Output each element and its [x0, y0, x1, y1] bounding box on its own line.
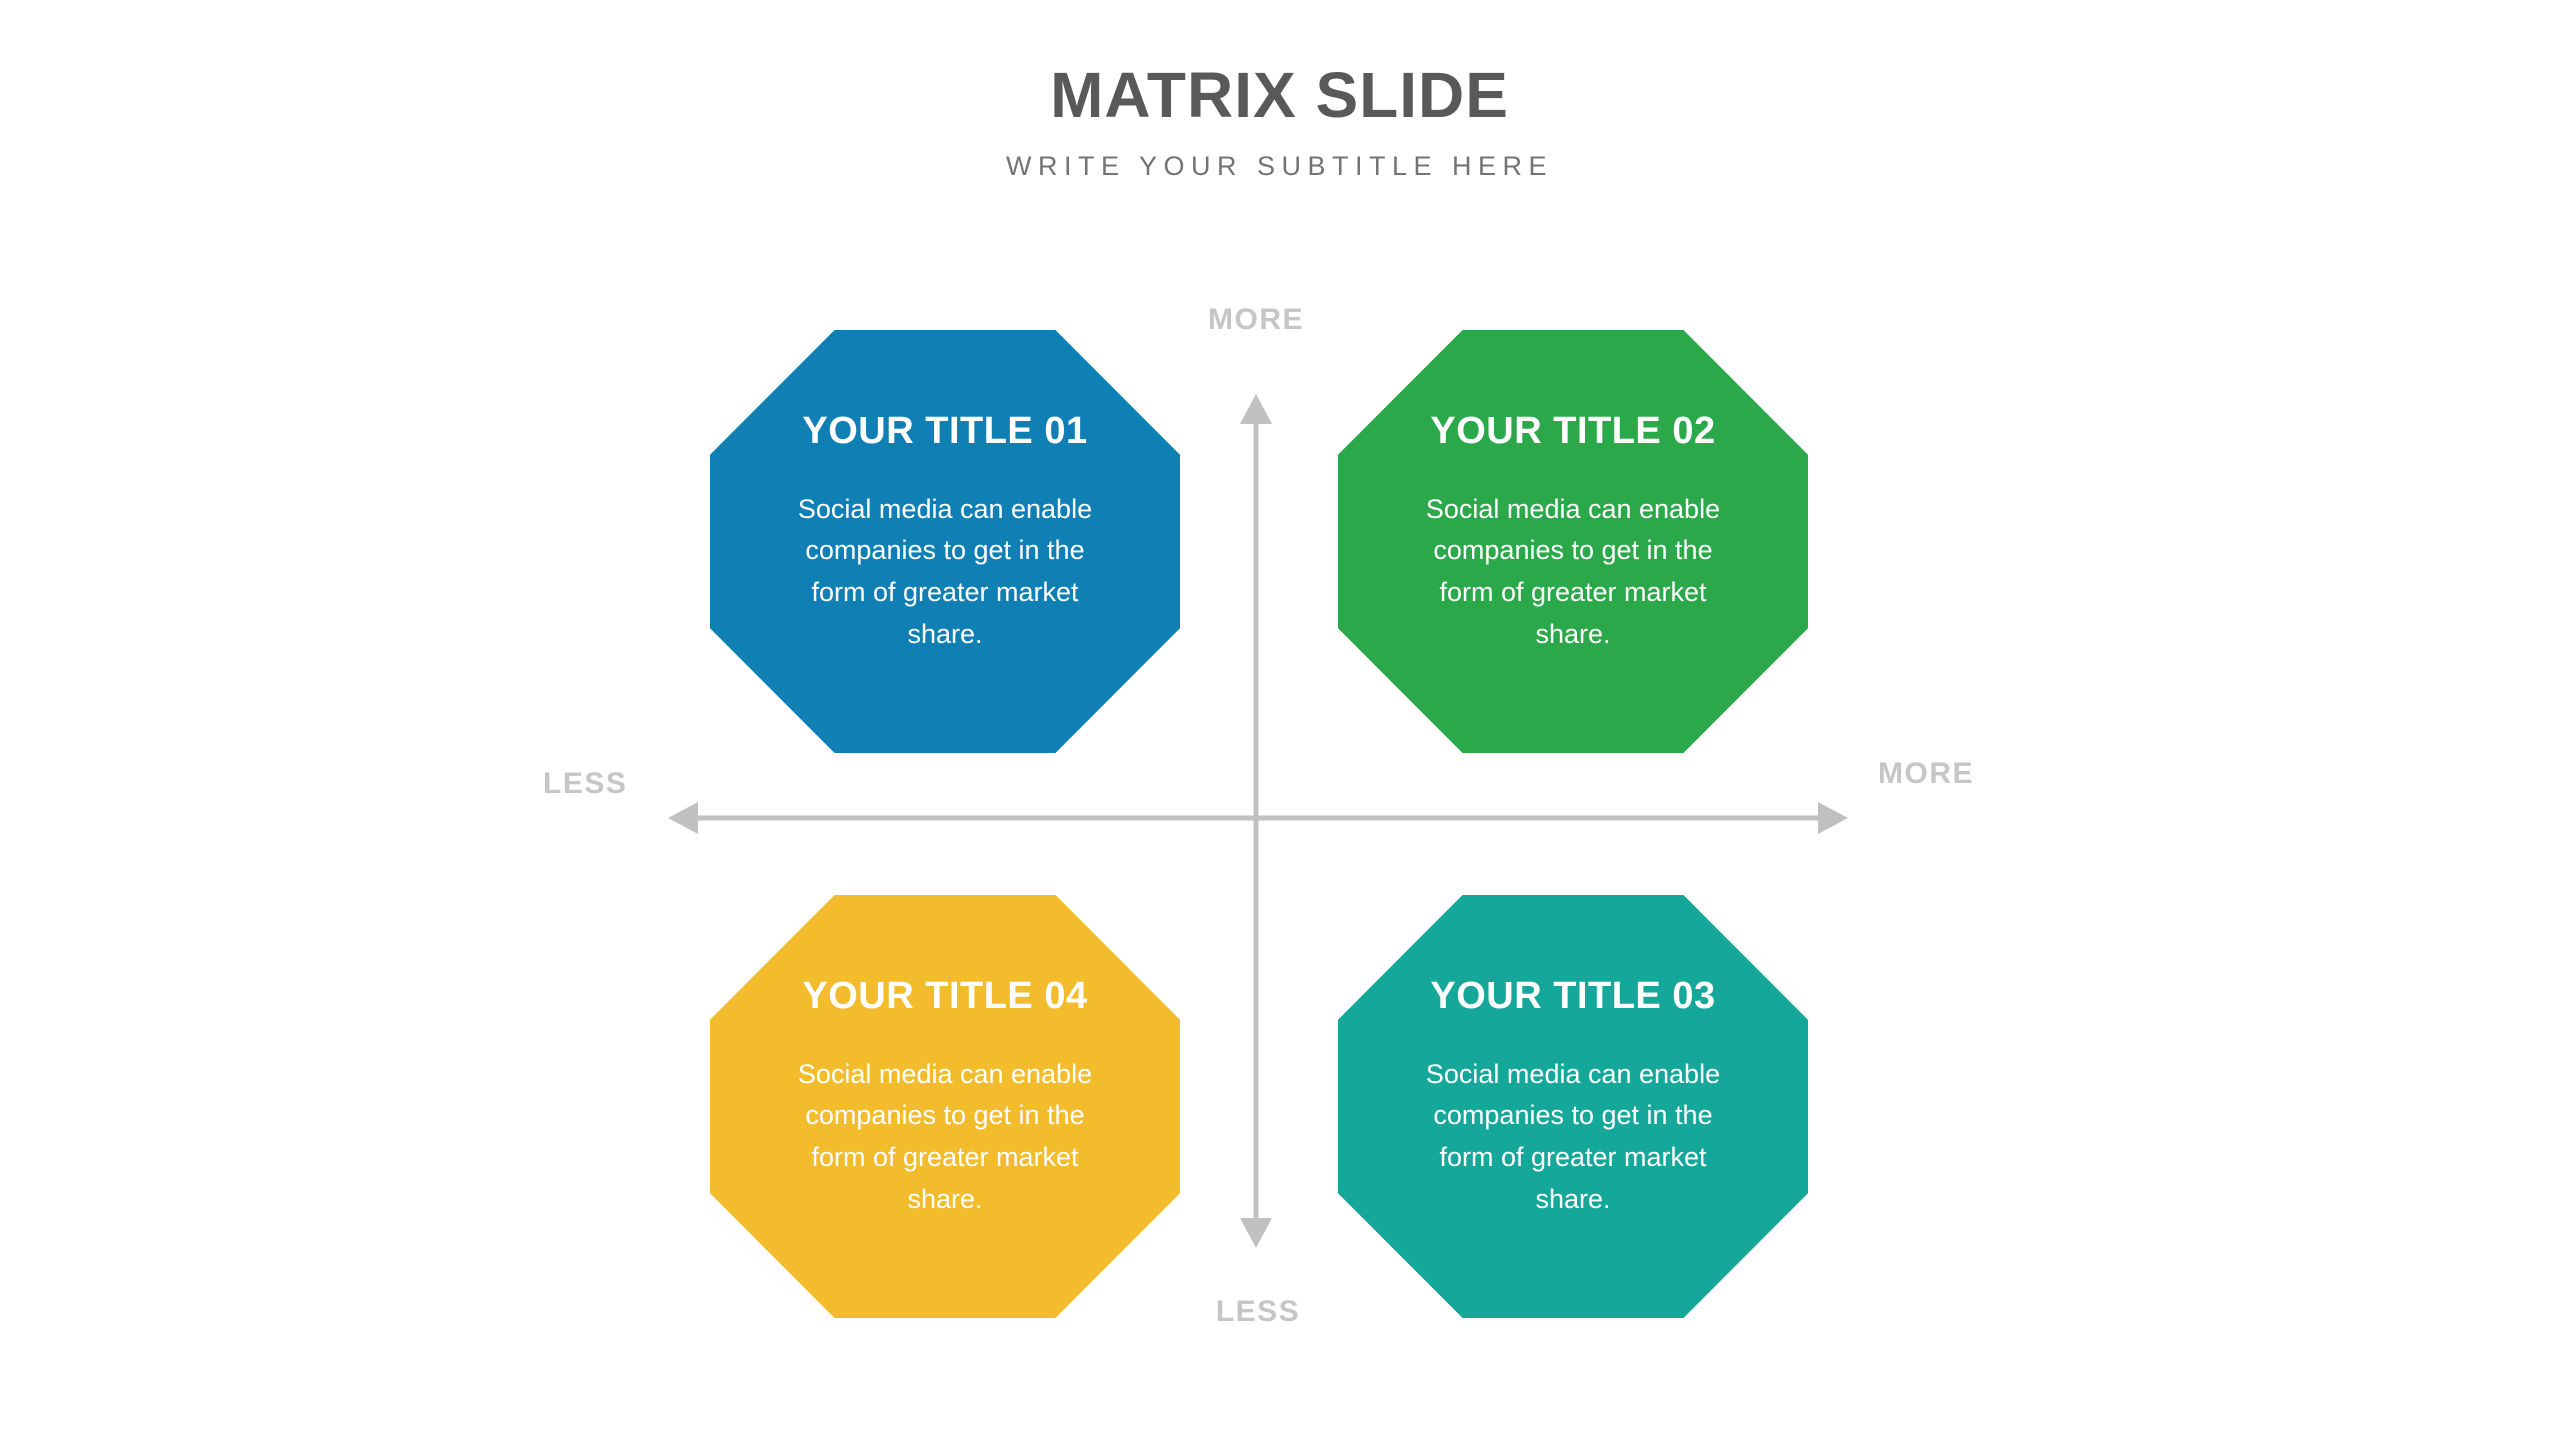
matrix-axes [0, 0, 2559, 1440]
quadrant-title: YOUR TITLE 02 [1430, 330, 1715, 453]
axis-arrow-up-icon [1240, 394, 1272, 424]
quadrant-title: YOUR TITLE 03 [1430, 895, 1715, 1018]
quadrant-octagon-bottom-left[interactable]: YOUR TITLE 04 Social media can enable co… [710, 895, 1180, 1318]
axis-label-vertical-bottom: LESS [1216, 1295, 1300, 1329]
quadrant-title: YOUR TITLE 01 [802, 330, 1087, 453]
quadrant-octagon-bottom-right[interactable]: YOUR TITLE 03 Social media can enable co… [1338, 895, 1808, 1318]
quadrant-body: Social media can enable companies to get… [1408, 1018, 1738, 1220]
quadrant-body: Social media can enable companies to get… [780, 453, 1110, 655]
page-subtitle: WRITE YOUR SUBTITLE HERE [0, 151, 2559, 182]
page-title: MATRIX SLIDE [0, 62, 2559, 129]
quadrant-body: Social media can enable companies to get… [780, 1018, 1110, 1220]
slide-header: MATRIX SLIDE WRITE YOUR SUBTITLE HERE [0, 62, 2559, 182]
axis-arrow-right-icon [1818, 802, 1848, 834]
matrix-slide: MATRIX SLIDE WRITE YOUR SUBTITLE HERE MO… [0, 0, 2559, 1440]
quadrant-body: Social media can enable companies to get… [1408, 453, 1738, 655]
axis-arrow-left-icon [668, 802, 698, 834]
quadrant-octagon-top-left[interactable]: YOUR TITLE 01 Social media can enable co… [710, 330, 1180, 753]
quadrant-title: YOUR TITLE 04 [802, 895, 1087, 1018]
quadrant-octagon-top-right[interactable]: YOUR TITLE 02 Social media can enable co… [1338, 330, 1808, 753]
axis-label-vertical-top: MORE [1208, 303, 1304, 337]
axis-arrow-down-icon [1240, 1218, 1272, 1248]
axis-label-horizontal-left: LESS [543, 767, 627, 801]
axis-label-horizontal-right: MORE [1878, 757, 1974, 791]
